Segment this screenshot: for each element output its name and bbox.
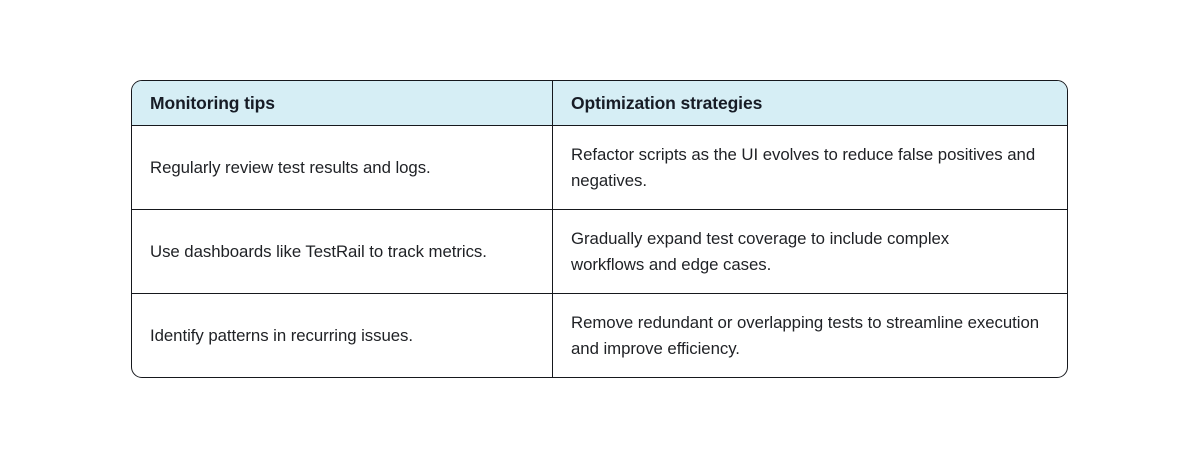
- table-cell-optimization-strategy-1: Refactor scripts as the UI evolves to re…: [553, 126, 1067, 209]
- column-header-optimization-strategies: Optimization strategies: [553, 81, 1067, 125]
- table-header-row: Monitoring tips Optimization strategies: [132, 81, 1067, 126]
- cell-text: Use dashboards like TestRail to track me…: [150, 239, 487, 265]
- table-row: Regularly review test results and logs. …: [132, 126, 1067, 210]
- comparison-table: Monitoring tips Optimization strategies …: [131, 80, 1068, 378]
- cell-text: Refactor scripts as the UI evolves to re…: [571, 142, 1041, 193]
- table-cell-monitoring-tip-3: Identify patterns in recurring issues.: [132, 294, 553, 377]
- cell-text: Gradually expand test coverage to includ…: [571, 226, 1023, 277]
- page-canvas: Monitoring tips Optimization strategies …: [0, 0, 1200, 457]
- table-cell-optimization-strategy-2: Gradually expand test coverage to includ…: [553, 210, 1067, 293]
- cell-text: Remove redundant or overlapping tests to…: [571, 310, 1049, 361]
- table-row: Use dashboards like TestRail to track me…: [132, 210, 1067, 294]
- table-cell-monitoring-tip-2: Use dashboards like TestRail to track me…: [132, 210, 553, 293]
- table-cell-monitoring-tip-1: Regularly review test results and logs.: [132, 126, 553, 209]
- table-body: Regularly review test results and logs. …: [132, 126, 1067, 377]
- table-cell-optimization-strategy-3: Remove redundant or overlapping tests to…: [553, 294, 1067, 377]
- cell-text: Identify patterns in recurring issues.: [150, 323, 413, 349]
- column-header-monitoring-tips: Monitoring tips: [132, 81, 553, 125]
- table-row: Identify patterns in recurring issues. R…: [132, 294, 1067, 377]
- cell-text: Regularly review test results and logs.: [150, 155, 431, 181]
